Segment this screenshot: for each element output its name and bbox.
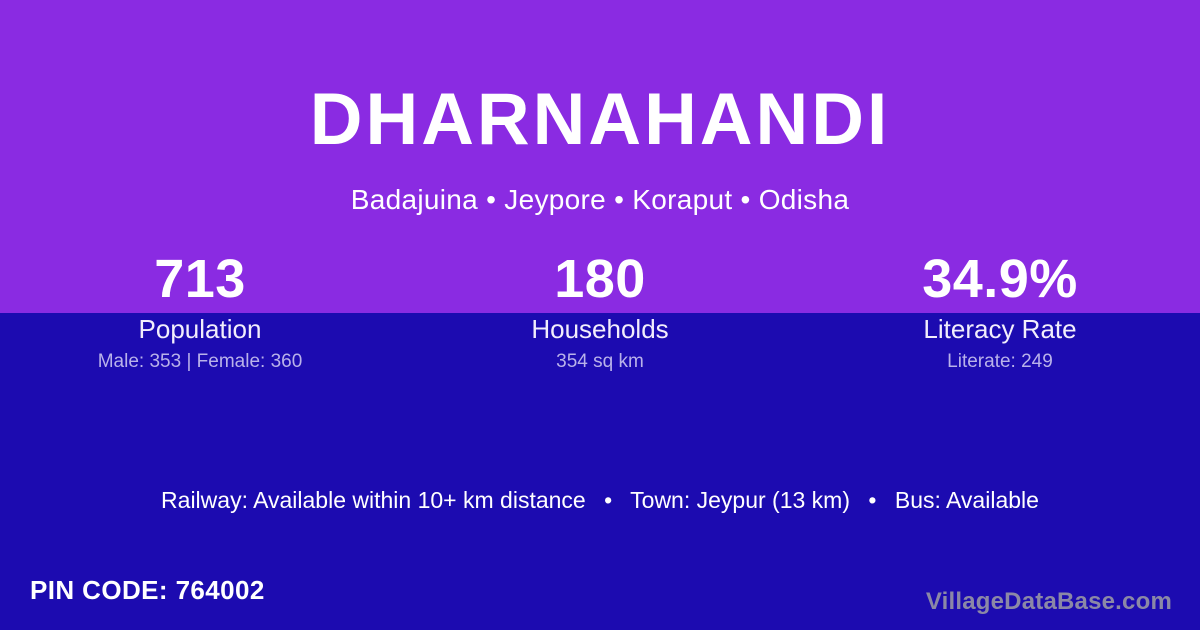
bullet-separator-icon: • (592, 485, 624, 515)
stat-detail: Male: 353 | Female: 360 (0, 351, 400, 373)
stats-row: 713 Population Male: 353 | Female: 360 1… (0, 248, 1200, 373)
stat-detail: Literate: 249 (800, 351, 1200, 373)
stat-label: Households (400, 314, 800, 344)
village-info-poster: DHARNAHANDI Badajuina • Jeypore • Korapu… (0, 0, 1200, 630)
bullet-separator-icon: • (856, 485, 888, 515)
amenity-railway: Railway: Available within 10+ km distanc… (161, 487, 586, 513)
site-brand-watermark: VillageDataBase.com (926, 588, 1172, 616)
page-title: DHARNAHANDI (0, 83, 1200, 156)
stat-label: Population (0, 314, 400, 344)
stat-value: 34.9% (800, 248, 1200, 310)
amenity-town: Town: Jeypur (13 km) (630, 487, 850, 513)
stat-detail: 354 sq km (400, 351, 800, 373)
pin-code-label: PIN CODE: 764002 (30, 575, 265, 605)
amenity-bus: Bus: Available (895, 487, 1039, 513)
location-breadcrumb: Badajuina • Jeypore • Koraput • Odisha (0, 182, 1200, 217)
stat-literacy-rate: 34.9% Literacy Rate Literate: 249 (800, 248, 1200, 373)
stat-value: 180 (400, 248, 800, 310)
amenities-line: Railway: Available within 10+ km distanc… (0, 485, 1200, 515)
stat-population: 713 Population Male: 353 | Female: 360 (0, 248, 400, 373)
stat-households: 180 Households 354 sq km (400, 248, 800, 373)
stat-value: 713 (0, 248, 400, 310)
stat-label: Literacy Rate (800, 314, 1200, 344)
